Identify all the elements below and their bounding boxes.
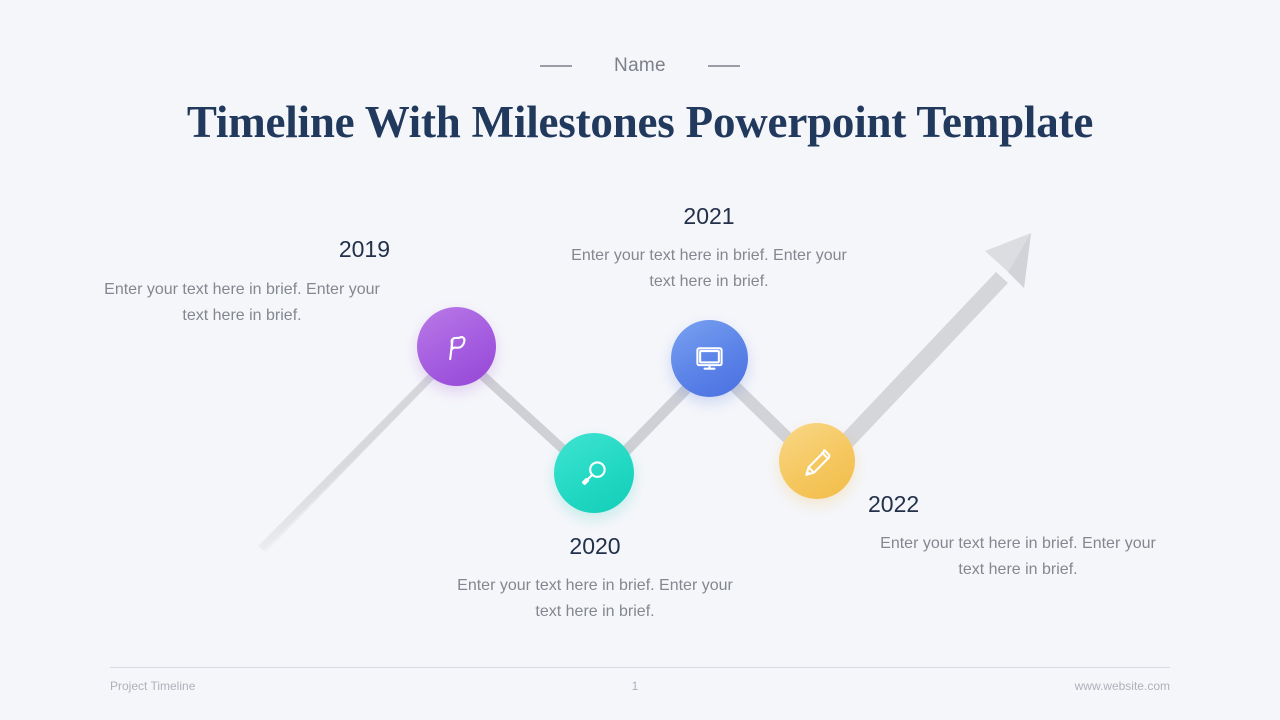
eyebrow-rule-right bbox=[708, 65, 740, 67]
footer-divider bbox=[110, 667, 1170, 668]
slide: Name Timeline With Milestones Powerpoint… bbox=[0, 0, 1280, 720]
milestone-text-2022: 2022 Enter your text here in brief. Ente… bbox=[868, 491, 1168, 584]
arrowhead bbox=[985, 233, 1031, 288]
monitor-icon bbox=[693, 342, 726, 375]
milestone-node-2021[interactable] bbox=[671, 320, 748, 397]
milestone-text-2020: 2020 Enter your text here in brief. Ente… bbox=[447, 533, 743, 626]
eyebrow: Name bbox=[0, 56, 1280, 75]
milestone-text-2019: 2019 Enter your text here in brief. Ente… bbox=[94, 236, 390, 330]
footer: Project Timeline 1 www.website.com bbox=[110, 679, 1170, 693]
footer-left-label: Project Timeline bbox=[110, 679, 195, 693]
milestone-year-label: 2020 bbox=[447, 533, 743, 561]
pencil-icon bbox=[801, 445, 834, 478]
page-title: Timeline With Milestones Powerpoint Temp… bbox=[0, 96, 1280, 149]
milestone-description: Enter your text here in brief. Enter you… bbox=[447, 573, 743, 627]
flag-icon bbox=[440, 330, 474, 364]
milestone-node-2019[interactable] bbox=[417, 307, 496, 386]
milestone-year-label: 2019 bbox=[94, 236, 390, 264]
magnifier-icon bbox=[577, 456, 611, 490]
milestone-description: Enter your text here in brief. Enter you… bbox=[561, 243, 857, 297]
footer-website-label: www.website.com bbox=[1075, 679, 1170, 693]
arrowhead-shade bbox=[1008, 233, 1031, 288]
milestone-year-label: 2021 bbox=[561, 203, 857, 231]
milestone-description: Enter your text here in brief. Enter you… bbox=[94, 277, 390, 331]
milestone-description: Enter your text here in brief. Enter you… bbox=[868, 531, 1168, 585]
footer-page-number: 1 bbox=[632, 679, 639, 693]
milestone-text-2021: 2021 Enter your text here in brief. Ente… bbox=[561, 203, 857, 296]
milestone-year-label: 2022 bbox=[868, 491, 1168, 519]
eyebrow-rule-left bbox=[540, 65, 572, 67]
milestone-node-2022[interactable] bbox=[779, 423, 855, 499]
eyebrow-label: Name bbox=[614, 56, 666, 75]
milestone-node-2020[interactable] bbox=[554, 433, 634, 513]
